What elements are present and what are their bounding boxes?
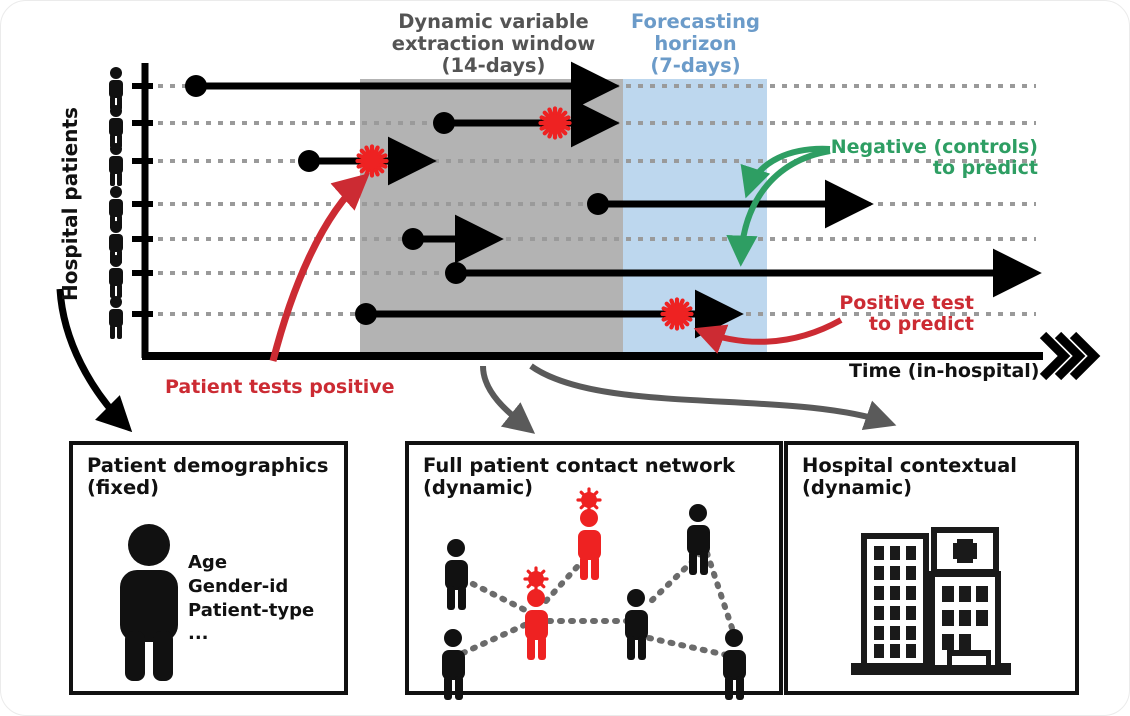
virus-icon: [525, 568, 547, 590]
hospital-icon: [843, 523, 1023, 678]
contact-nodes: [442, 489, 746, 700]
figure-canvas: Dynamic variable extraction window (14-d…: [0, 0, 1130, 716]
person-icon-infected: [578, 509, 601, 580]
person-icon: [625, 589, 648, 660]
virus-icon: [578, 489, 600, 511]
hospital-contextual-title: Hospital contextual (dynamic): [802, 455, 1017, 499]
person-icon: [445, 539, 468, 610]
person-icon: [687, 504, 710, 575]
person-icon-infected: [525, 589, 548, 660]
person-icon: [442, 629, 465, 700]
person-icon: [723, 629, 746, 700]
hospital-contextual-box: Hospital contextual (dynamic): [784, 441, 1079, 695]
